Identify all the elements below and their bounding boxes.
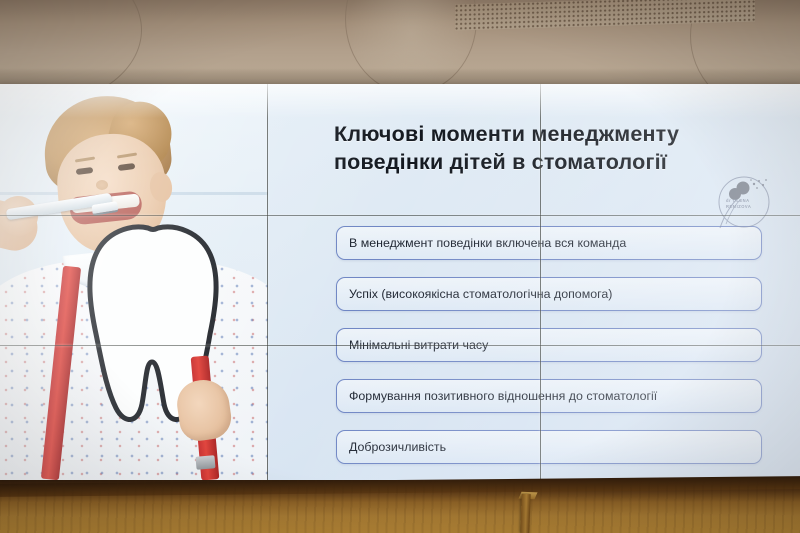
bullet-label: Доброзичливість <box>349 440 446 454</box>
logo-text: dr OLENA REMIZOVA <box>726 198 780 210</box>
bezel-seam-horizontal <box>0 215 800 216</box>
wooden-post <box>520 494 530 533</box>
slide-content: Ключові моменти менеджменту поведінки ді… <box>268 84 800 480</box>
bezel-seam-vertical <box>267 84 268 480</box>
bullet-label: Успіх (високоякісна стоматологічна допом… <box>349 287 612 301</box>
boy-nose <box>96 180 108 190</box>
bullet-item-1[interactable]: В менеджмент поведінки включена вся кома… <box>336 226 762 260</box>
bezel-seam-vertical <box>540 84 541 480</box>
wooden-desk <box>0 480 800 533</box>
bezel-seam-horizontal <box>0 345 800 346</box>
slide-photo <box>0 84 268 480</box>
video-wall-screen[interactable]: Ключові моменти менеджменту поведінки ді… <box>0 84 800 480</box>
bullet-label: В менеджмент поведінки включена вся кома… <box>349 236 626 250</box>
bullet-label: Формування позитивного відношення до сто… <box>349 389 657 403</box>
bullet-item-4[interactable]: Формування позитивного відношення до сто… <box>336 379 762 413</box>
desk-wood-grain <box>0 480 800 533</box>
brand-logo: dr OLENA REMIZOVA <box>702 172 782 234</box>
suspender-buckle <box>195 455 215 470</box>
bullet-list: В менеджмент поведінки включена вся кома… <box>336 226 760 480</box>
ceiling <box>0 0 800 84</box>
bullet-item-2[interactable]: Успіх (високоякісна стоматологічна допом… <box>336 277 762 311</box>
slide-title: Ключові моменти менеджменту поведінки ді… <box>334 120 754 176</box>
room-photo: Ключові моменти менеджменту поведінки ді… <box>0 0 800 533</box>
bullet-item-5[interactable]: Доброзичливість <box>336 430 762 464</box>
